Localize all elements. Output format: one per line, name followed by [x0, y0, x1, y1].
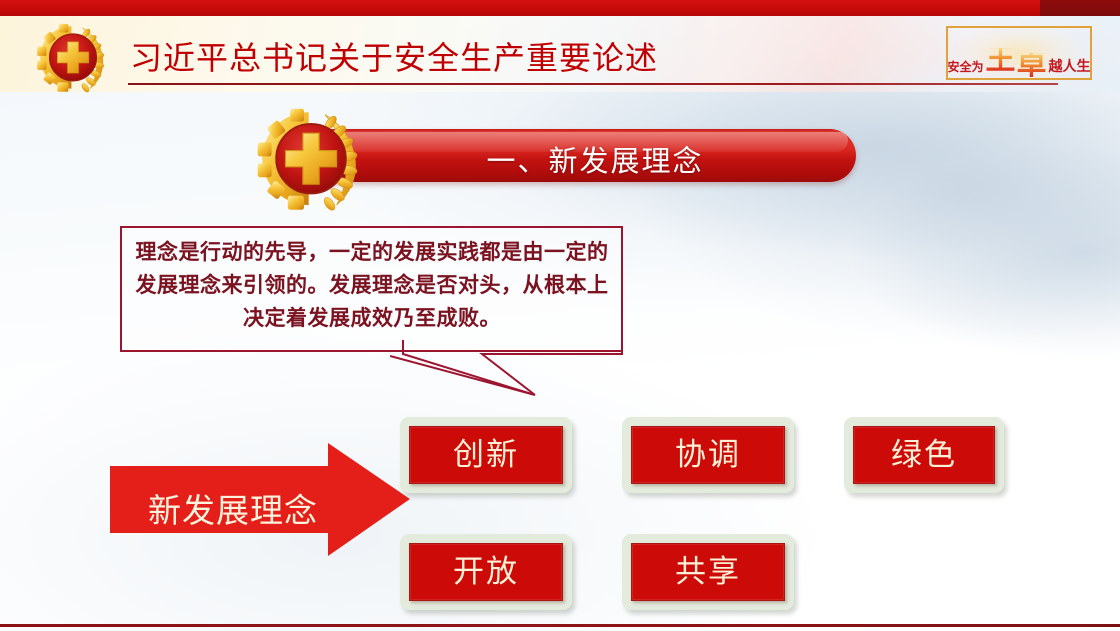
callout-pointer-tail [390, 340, 630, 410]
brand-badge: 安全为 王 卓 越人生 [946, 26, 1092, 80]
header-divider [128, 83, 1058, 85]
quote-callout-text: 理念是行动的先导，一定的发展实践都是由一定的发展理念来引领的。发展理念是否对头，… [129, 236, 615, 335]
concept-label: 开放 [453, 556, 519, 587]
concept-label: 创新 [453, 439, 519, 470]
concept-box-openness[interactable]: 开放 [400, 534, 572, 610]
badge-big-char-2: 卓 [1017, 53, 1047, 78]
concept-label: 共享 [675, 556, 741, 587]
concept-box-inner: 协调 [631, 426, 785, 484]
concept-box-green[interactable]: 绿色 [844, 417, 1004, 493]
slide-canvas: 习近平总书记关于安全生产重要论述 安全为 王 卓 越人生 一、新发展理念 [0, 0, 1120, 631]
concept-box-sharing[interactable]: 共享 [622, 534, 794, 610]
badge-prefix-text: 安全为 [947, 61, 983, 73]
concept-box-innovation[interactable]: 创新 [400, 417, 572, 493]
badge-suffix-text: 越人生 [1049, 59, 1091, 73]
footer-divider [0, 624, 1120, 627]
concept-box-inner: 开放 [409, 543, 563, 601]
process-arrow-label: 新发展理念 [118, 484, 348, 532]
page-title: 习近平总书记关于安全生产重要论述 [130, 33, 658, 79]
concept-label: 绿色 [891, 439, 957, 470]
concept-box-inner: 绿色 [853, 426, 995, 484]
safety-production-emblem-icon [34, 20, 112, 98]
top-bar-right [1040, 0, 1120, 16]
top-bar-left [0, 0, 1040, 16]
concept-box-inner: 共享 [631, 543, 785, 601]
concept-box-inner: 创新 [409, 426, 563, 484]
badge-content: 安全为 王 卓 越人生 [946, 26, 1092, 80]
safety-production-emblem-icon [253, 103, 369, 219]
concept-box-coordination[interactable]: 协调 [622, 417, 794, 493]
concept-label: 协调 [675, 439, 741, 470]
section-banner-title: 一、新发展理念 [380, 138, 810, 180]
badge-big-char-1: 王 [986, 48, 1016, 73]
